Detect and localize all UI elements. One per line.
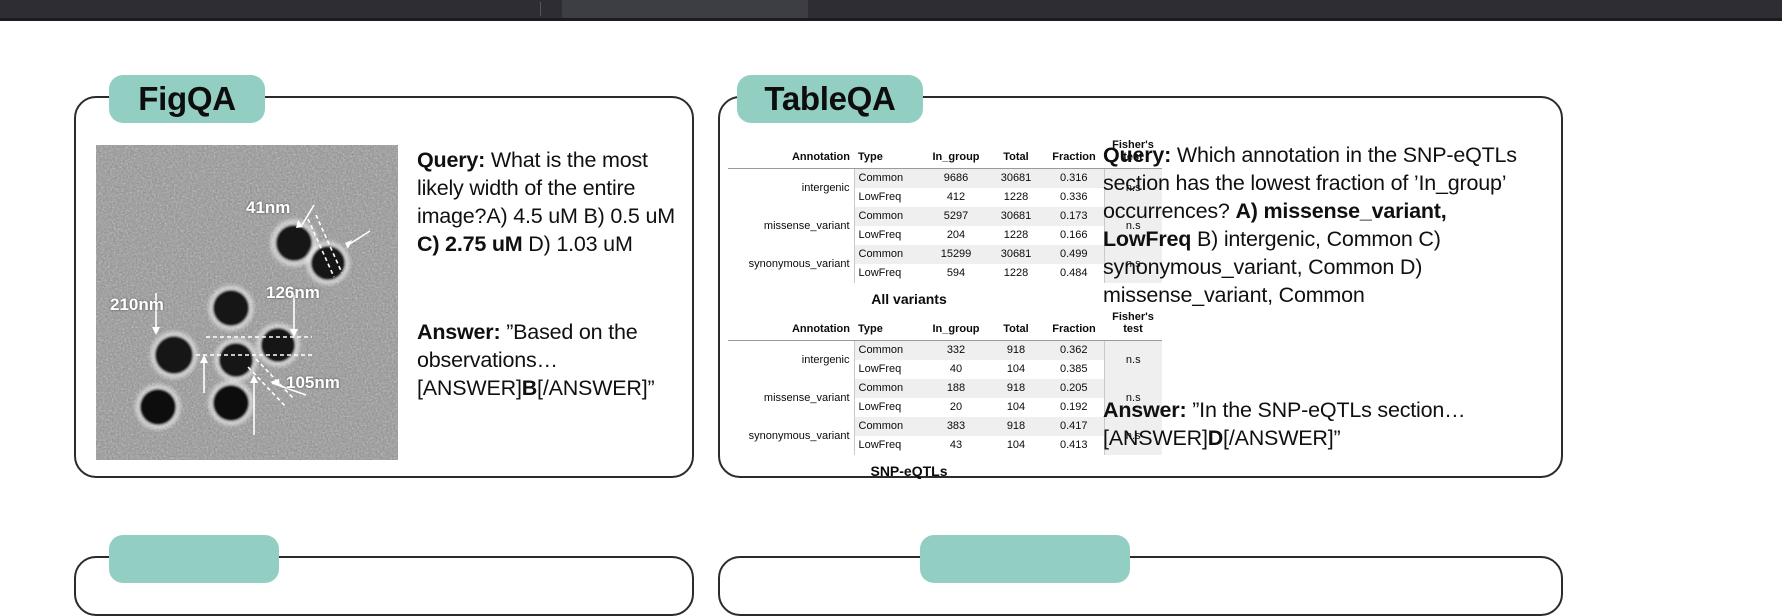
all-variants-table-wrap: Annotation Type In_group Total Fraction … [728,138,1090,307]
cell-annotation: intergenic [728,169,854,208]
cell-in-group: 43 [924,436,988,455]
table-head: Annotation Type In_group Total Fraction … [728,138,1162,169]
cell-total: 918 [988,417,1044,436]
cell-total: 30681 [988,169,1044,189]
th-type: Type [854,138,924,169]
table-head: Annotation Type In_group Total Fraction … [728,310,1162,341]
cell-in-group: 20 [924,398,988,417]
cell-fraction: 0.316 [1044,169,1104,189]
cell-type: LowFreq [854,188,924,207]
table-body: intergenicCommon3329180.362n.sLowFreq401… [728,341,1162,456]
th-fishers-test: Fisher's test [1104,310,1162,341]
cell-fraction: 0.362 [1044,341,1104,361]
label-126nm: 126nm [266,283,320,303]
cell-fraction: 0.192 [1044,398,1104,417]
cell-fraction: 0.205 [1044,379,1104,398]
cell-type: Common [854,417,924,436]
cell-total: 104 [988,436,1044,455]
topbar-underline [0,18,1782,21]
label-105nm: 105nm [286,373,340,393]
cell-fraction: 0.173 [1044,207,1104,226]
table-row: intergenicCommon3329180.362n.s [728,341,1162,361]
cell-type: Common [854,341,924,361]
table-row: intergenicCommon9686306810.316n.s [728,169,1162,189]
table-header-row: Annotation Type In_group Total Fraction … [728,310,1162,341]
figqa-answer-tail: [/ANSWER]” [537,376,654,400]
tableqa-query-block: Query: Which annotation in the SNP-eQTLs… [1103,141,1535,309]
label-41nm: 41nm [246,198,290,218]
th-annotation: Annotation [728,310,854,341]
table-body: intergenicCommon9686306810.316n.sLowFreq… [728,169,1162,284]
figqa-query-block: Query: What is the most likely width of … [417,146,685,258]
snp-eqtls-caption: SNP-eQTLs [728,463,1090,479]
cell-in-group: 332 [924,341,988,361]
figqa-query-label: Query: [417,148,485,172]
tableqa-query-label: Query: [1103,143,1171,167]
cell-in-group: 9686 [924,169,988,189]
topbar-divider [540,2,541,16]
th-fraction: Fraction [1044,310,1104,341]
figqa-option-correct: C) 2.75 uM [417,232,523,256]
cell-in-group: 204 [924,226,988,245]
window-topbar [0,0,1782,18]
cell-type: Common [854,169,924,189]
th-in-group: In_group [924,310,988,341]
cell-type: Common [854,379,924,398]
table-row: synonymous_variantCommon15299306810.499n… [728,245,1162,264]
cell-in-group: 412 [924,188,988,207]
table-row: missense_variantCommon1889180.205n.s [728,379,1162,398]
th-annotation: Annotation [728,138,854,169]
figqa-answer-label: Answer: [417,320,500,344]
cell-total: 1228 [988,188,1044,207]
cell-annotation: synonymous_variant [728,417,854,455]
cell-type: LowFreq [854,360,924,379]
tableqa-answer-block: Answer: ”In the SNP-eQTLs section… [ANSW… [1103,396,1535,452]
cell-fraction: 0.385 [1044,360,1104,379]
cell-type: Common [854,245,924,264]
cell-total: 104 [988,398,1044,417]
tableqa-answer-choice: D [1208,426,1223,450]
tableqa-badge: TableQA [737,75,923,123]
cell-in-group: 383 [924,417,988,436]
figqa-answer-choice: B [522,376,537,400]
th-total: Total [988,138,1044,169]
figqa-option-d: D) 1.03 uM [523,232,633,256]
table-header-row: Annotation Type In_group Total Fraction … [728,138,1162,169]
cell-total: 918 [988,341,1044,361]
label-210nm: 210nm [110,295,164,315]
cell-total: 30681 [988,245,1044,264]
cell-fraction: 0.166 [1044,226,1104,245]
cell-type: LowFreq [854,398,924,417]
next-badge-right [920,535,1130,583]
figqa-micrograph: 41nm 126nm 210nm 105nm [96,145,398,460]
cell-type: LowFreq [854,226,924,245]
cell-annotation: missense_variant [728,379,854,417]
cell-annotation: synonymous_variant [728,245,854,283]
tableqa-answer-label: Answer: [1103,398,1186,422]
table-row: missense_variantCommon5297306810.173n.s [728,207,1162,226]
topbar-active-segment[interactable] [562,0,808,18]
tableqa-answer-tail: [/ANSWER]” [1223,426,1340,450]
cell-annotation: missense_variant [728,207,854,245]
cell-in-group: 188 [924,379,988,398]
cell-fraction: 0.413 [1044,436,1104,455]
th-type: Type [854,310,924,341]
cell-in-group: 5297 [924,207,988,226]
cell-total: 1228 [988,226,1044,245]
figqa-answer-block: Answer: ”Based on the observations…[ANSW… [417,318,685,402]
all-variants-caption: All variants [728,291,1090,307]
snp-eqtls-table: Annotation Type In_group Total Fraction … [728,310,1162,455]
cell-fraction: 0.484 [1044,264,1104,283]
cell-total: 918 [988,379,1044,398]
cell-total: 1228 [988,264,1044,283]
figqa-badge: FigQA [109,75,265,123]
cell-in-group: 40 [924,360,988,379]
all-variants-table: Annotation Type In_group Total Fraction … [728,138,1162,283]
cell-type: LowFreq [854,436,924,455]
table-row: synonymous_variantCommon3839180.417n.s [728,417,1162,436]
figqa-options-a-b: A) 4.5 uM B) 0.5 uM [486,204,675,228]
next-badge-left [109,535,279,583]
cell-fishers-test: n.s [1104,341,1162,380]
snp-eqtls-table-wrap: Annotation Type In_group Total Fraction … [728,310,1090,479]
th-fraction: Fraction [1044,138,1104,169]
cell-total: 30681 [988,207,1044,226]
next-card-right [718,556,1563,616]
cell-in-group: 15299 [924,245,988,264]
cell-annotation: intergenic [728,341,854,380]
cell-type: LowFreq [854,264,924,283]
cell-fraction: 0.499 [1044,245,1104,264]
cell-in-group: 594 [924,264,988,283]
cell-fraction: 0.417 [1044,417,1104,436]
th-in-group: In_group [924,138,988,169]
th-total: Total [988,310,1044,341]
cell-total: 104 [988,360,1044,379]
cell-type: Common [854,207,924,226]
cell-fraction: 0.336 [1044,188,1104,207]
